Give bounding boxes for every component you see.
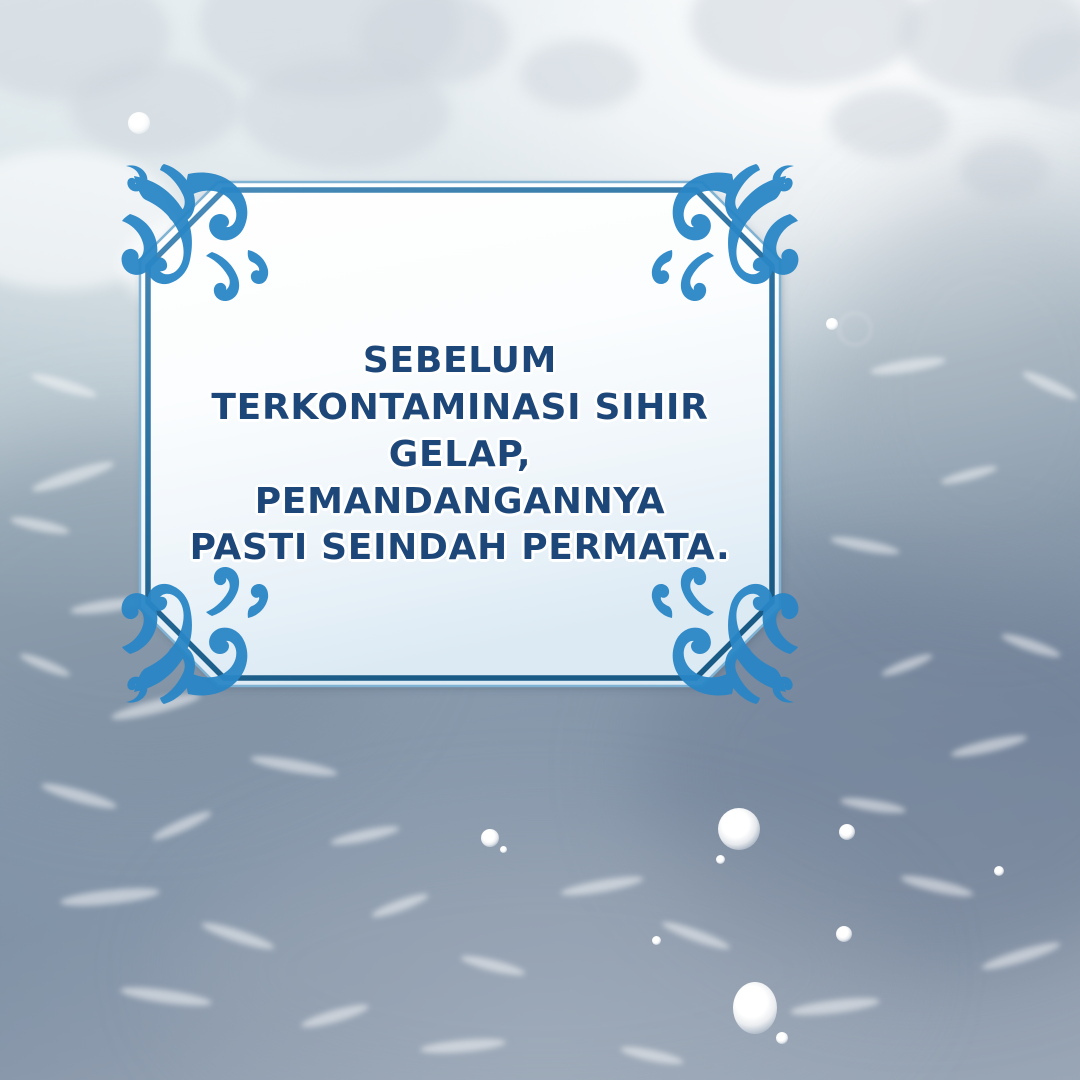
bubble-ring-icon (838, 312, 872, 346)
water-wisp (151, 807, 214, 843)
light-orb (500, 846, 507, 853)
water-wisp (30, 370, 98, 400)
mist-blob (960, 140, 1050, 200)
water-wisp (790, 995, 881, 1019)
water-wisp (900, 872, 975, 900)
light-orb (718, 808, 760, 850)
water-wisp (370, 890, 430, 921)
water-wisp (1020, 368, 1079, 403)
water-wisp (200, 919, 276, 954)
water-wisp (250, 752, 339, 779)
mist-blob (360, 0, 510, 85)
mist-blob (200, 0, 460, 98)
dialogue-panel: SEBELUM TERKONTAMINASI SIHIR GELAP, PEMA… (126, 168, 794, 700)
mist-blob (1010, 30, 1080, 110)
water-wisp (980, 938, 1062, 973)
water-wisp (18, 650, 72, 680)
water-wisp (1000, 630, 1062, 661)
water-veil (180, 820, 900, 1080)
water-wisp (10, 514, 71, 537)
water-veil (820, 180, 1080, 600)
water-wisp (830, 533, 901, 557)
light-orb (481, 829, 499, 847)
mist-blob (70, 60, 240, 155)
water-wisp (560, 873, 645, 899)
light-orb (652, 936, 661, 945)
panel-body (140, 182, 780, 686)
water-wisp (300, 1001, 371, 1032)
water-wisp (420, 1036, 507, 1055)
water-wisp (30, 457, 116, 496)
water-wisp (880, 651, 934, 680)
water-wisp (950, 731, 1029, 760)
light-orb (776, 1032, 788, 1044)
light-orb (994, 866, 1004, 876)
water-wisp (870, 354, 947, 378)
water-wisp (620, 1043, 685, 1067)
light-orb (716, 855, 725, 864)
light-orb (733, 982, 777, 1034)
water-wisp (40, 779, 118, 812)
water-wisp (940, 463, 999, 488)
light-orb (128, 112, 150, 134)
light-orb (839, 824, 855, 840)
mist-blob (0, 0, 170, 100)
dialogue-panel-frame (126, 168, 794, 700)
light-orb (826, 318, 838, 330)
water-wisp (120, 984, 213, 1010)
water-wisp (330, 823, 401, 848)
mist-blob (830, 88, 950, 158)
water-wisp (660, 918, 731, 953)
water-wisp (60, 885, 161, 909)
mist-blob (690, 0, 920, 86)
mist-blob (520, 40, 640, 110)
water-wisp (460, 952, 527, 979)
comic-scene: SEBELUM TERKONTAMINASI SIHIR GELAP, PEMA… (0, 0, 1080, 1080)
mist-blob (900, 0, 1080, 96)
water-wisp (840, 795, 907, 816)
light-orb (836, 926, 852, 942)
mist-blob (240, 58, 450, 168)
